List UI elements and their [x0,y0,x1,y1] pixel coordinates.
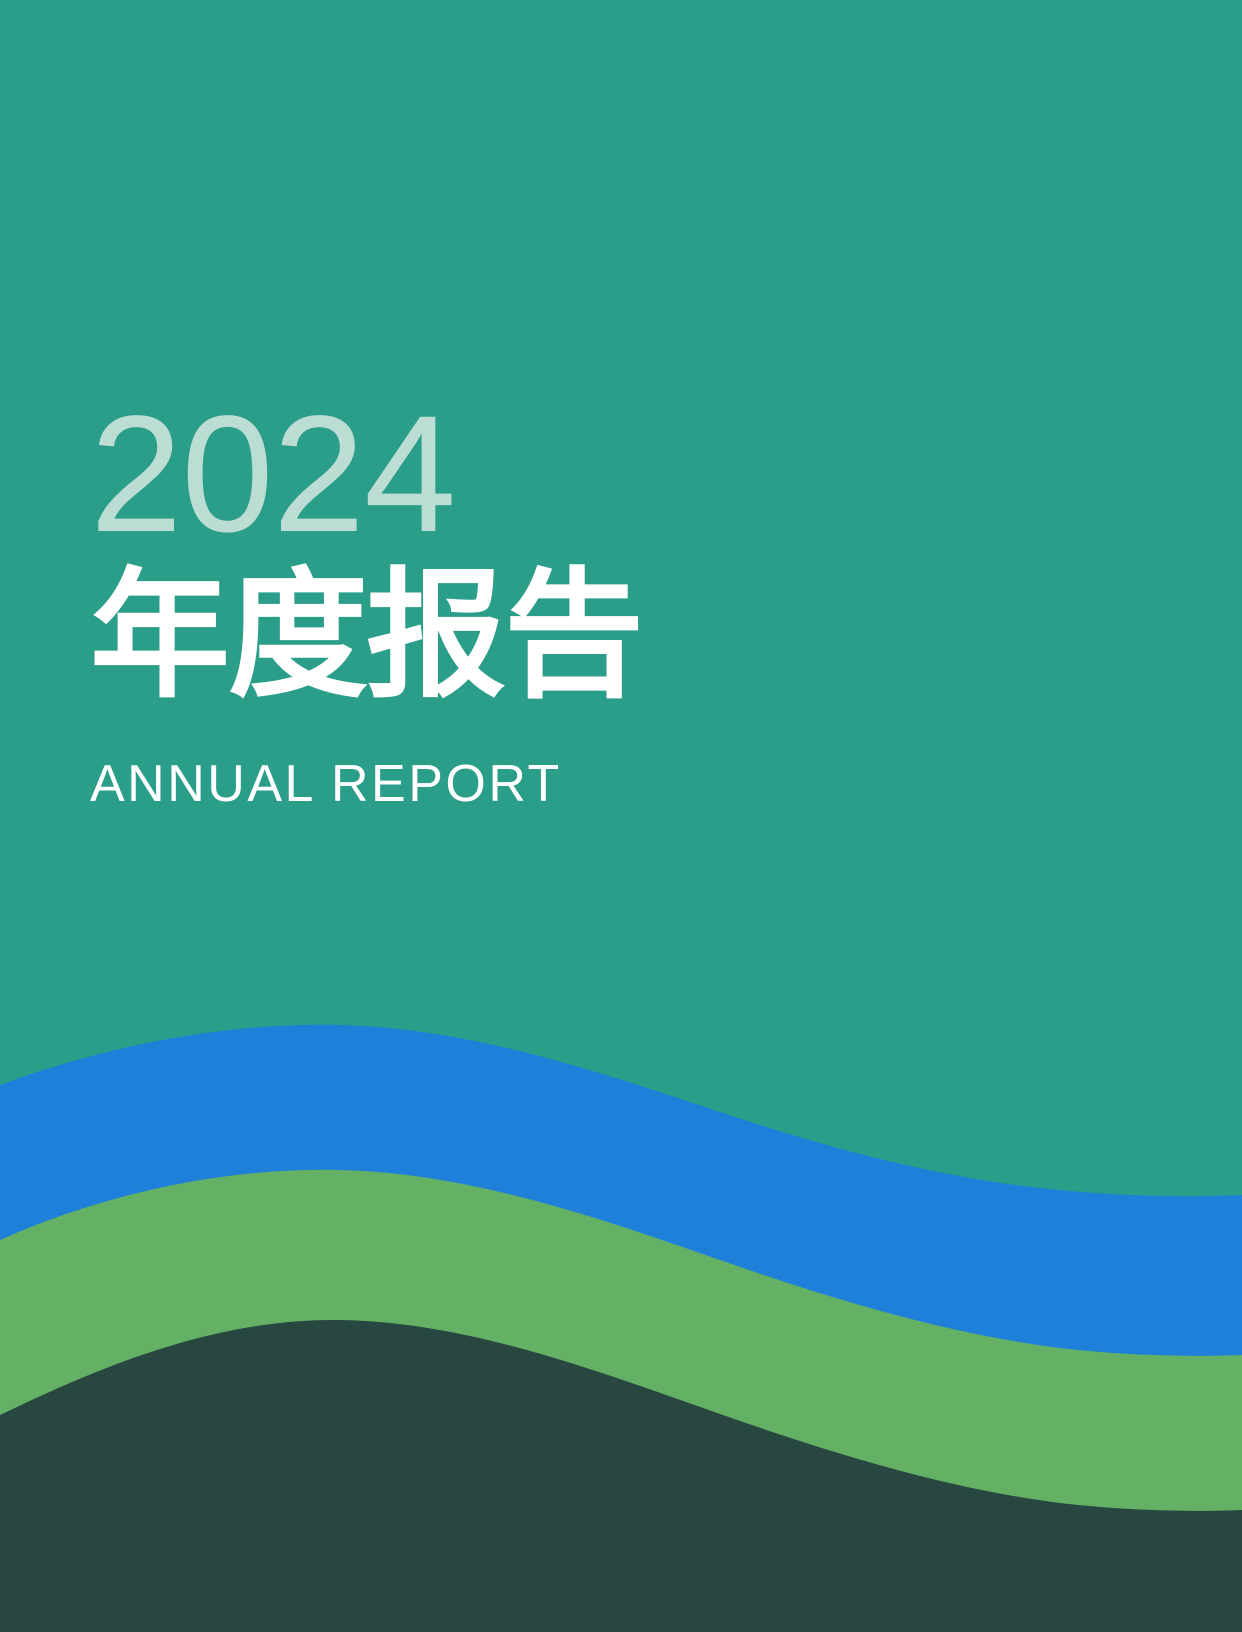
decorative-wave-graphic [0,0,1242,1632]
cover-text-block: 2024 年度报告 ANNUAL REPORT [90,392,790,810]
cover-year: 2024 [90,392,790,542]
cover-subtitle-english: ANNUAL REPORT [90,758,790,810]
report-cover-page: 2024 年度报告 ANNUAL REPORT [0,0,1242,1632]
cover-title-chinese: 年度报告 [90,566,790,706]
